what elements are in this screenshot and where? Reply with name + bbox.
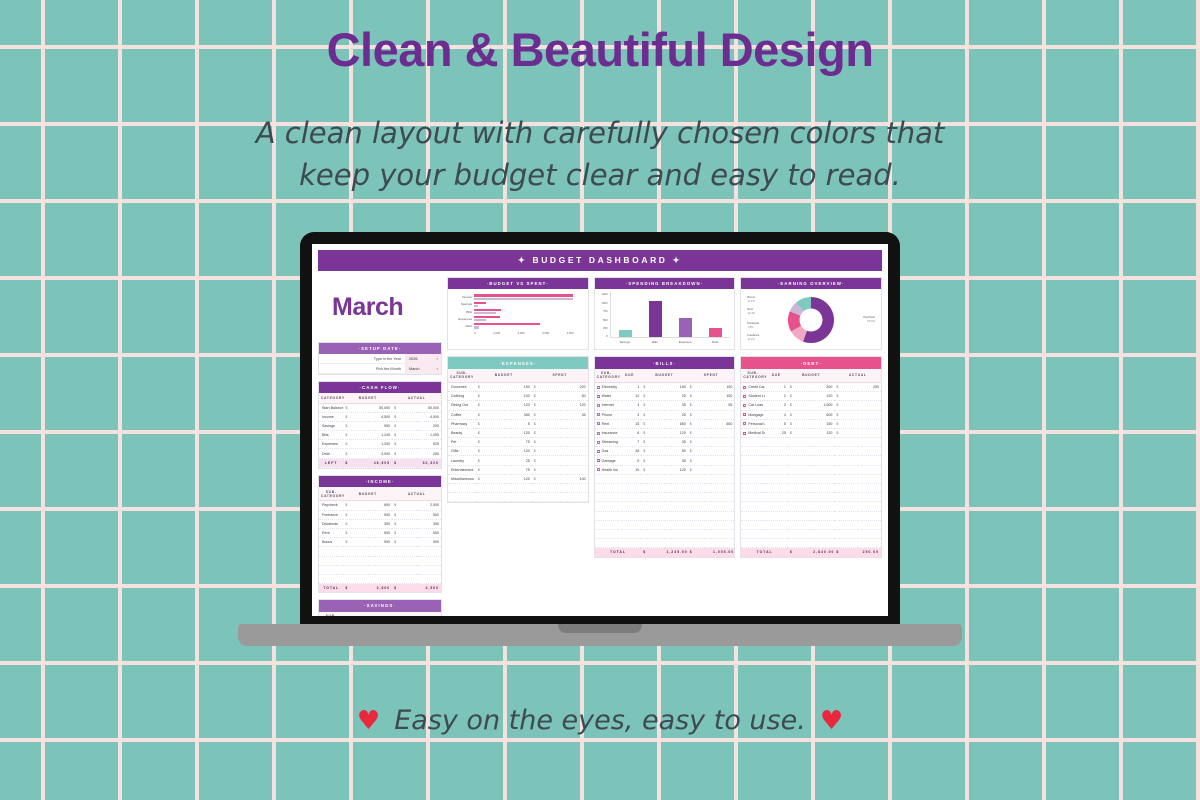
- cell-due: 1: [765, 382, 788, 391]
- table-row[interactable]: Credit Card1$300$250: [741, 382, 881, 391]
- cell-name: Bills: [319, 431, 343, 440]
- cell-spent: [560, 456, 588, 465]
- xtick: 2,000: [518, 331, 525, 335]
- cell-budget: 650: [368, 528, 392, 537]
- column-expenses: ·BUDGET VS SPENT· IncomeSavingsBillsExpe…: [447, 277, 589, 509]
- col-subcategory: SUB-CATEGORY: [595, 369, 618, 383]
- currency-symbol: $: [834, 401, 857, 410]
- hbar-budget: [474, 309, 501, 311]
- debt-body: Credit Card1$300$250Student Loan2$120$Ca…: [741, 382, 881, 547]
- table-row-empty[interactable]: [741, 529, 881, 538]
- cell-actual: 500: [417, 538, 441, 547]
- cell-budget: 350: [368, 519, 392, 528]
- hbar-spent: [474, 298, 573, 300]
- cash-flow-panel: ·CASH FLOW· CATEGORY BUDGET ACTUAL Start…: [318, 381, 442, 469]
- cell-budget: 25: [664, 410, 687, 419]
- currency-symbol: $: [688, 401, 711, 410]
- col-actual: ACTUAL: [834, 369, 881, 383]
- checkbox-icon[interactable]: [597, 395, 600, 398]
- col-due: DUE: [765, 369, 788, 383]
- col-subcategory: SUB-CATEGORY: [741, 369, 764, 383]
- donut-legend-paycheck: Paycheck55.6%: [863, 316, 875, 323]
- currency-symbol: $: [392, 431, 416, 440]
- table-row[interactable]: Internet3$35$55: [595, 401, 735, 410]
- currency-symbol: $: [688, 456, 711, 465]
- table-row[interactable]: Freelance$500$500: [319, 510, 441, 519]
- table-row-empty[interactable]: [741, 438, 881, 447]
- total-budget: 2,600: [368, 584, 392, 593]
- cell-name: Clothing: [448, 392, 476, 401]
- income-total-row: TOTAL $ 2,600 $ 4,500: [319, 584, 441, 593]
- cell-spent: [711, 447, 734, 456]
- left-actual: 52,520: [417, 458, 441, 467]
- table-row-empty[interactable]: [595, 502, 735, 511]
- cell-actual: 250: [858, 382, 881, 391]
- cell-due: 6: [618, 428, 641, 437]
- cell-due: 12: [618, 392, 641, 401]
- currency-symbol: $: [788, 392, 811, 401]
- table-row[interactable]: Pet$75$: [448, 438, 588, 447]
- table-row[interactable]: Water12$25$150: [595, 392, 735, 401]
- currency-symbol: $: [641, 456, 664, 465]
- table-row[interactable]: Personal Loan5$150$: [741, 419, 881, 428]
- column-left: March ·SETUP DATE· Type in the Year 2026…: [318, 277, 442, 616]
- hbar-budget: [474, 323, 540, 325]
- savings-table: SUB-CATEGORY BUDGET ACTUAL Emergency$100…: [319, 612, 441, 616]
- table-row[interactable]: Phone4$25$: [595, 410, 735, 419]
- table-row-empty[interactable]: [741, 502, 881, 511]
- table-row-empty[interactable]: [595, 520, 735, 529]
- table-row[interactable]: Bills$1,245$1,005: [319, 431, 441, 440]
- table-row-empty[interactable]: [595, 484, 735, 493]
- currency-symbol: $: [788, 382, 811, 391]
- cell-spent: 35: [560, 410, 588, 419]
- table-row[interactable]: Dining Out$120$120: [448, 401, 588, 410]
- laptop-mockup: ✦ BUDGET DASHBOARD ✦ March ·SETUP DATE· …: [300, 232, 900, 634]
- year-select[interactable]: 2026 ▾: [405, 354, 441, 363]
- table-row[interactable]: Student Loan2$120$: [741, 392, 881, 401]
- cell-budget: 650: [664, 419, 687, 428]
- cell-budget: 3,000: [368, 449, 392, 458]
- debt-panel: ·DEBT· SUB-CATEGORY DUE BUDGET ACTUAL Cr…: [740, 356, 882, 557]
- cell-name: Health Insurance: [595, 465, 618, 474]
- table-row[interactable]: Car Loan2$1,500$: [741, 401, 881, 410]
- currency-symbol: $: [688, 382, 711, 391]
- income-panel: ·INCOME· SUB-CATEGORY BUDGET ACTUAL Payc…: [318, 475, 442, 593]
- cell-due: 7: [618, 438, 641, 447]
- checkbox-icon[interactable]: [743, 386, 746, 389]
- savings-header: ·SAVINGS·: [319, 600, 441, 611]
- col-budget: BUDGET: [476, 369, 532, 383]
- table-row[interactable]: Coffee$350$35: [448, 410, 588, 419]
- laptop-screen: ✦ BUDGET DASHBOARD ✦ March ·SETUP DATE· …: [312, 244, 888, 616]
- currency-symbol: $: [343, 421, 367, 430]
- currency-symbol: $: [476, 438, 504, 447]
- vbar-bills: [649, 301, 662, 337]
- checkbox-icon[interactable]: [743, 413, 746, 416]
- month-label: Pick the Month: [319, 364, 405, 373]
- currency-symbol: $: [532, 465, 560, 474]
- table-row[interactable]: Clothing$100$50: [448, 392, 588, 401]
- cell-budget: 100: [504, 392, 532, 401]
- cell-name: Pet: [448, 438, 476, 447]
- currency-symbol: $: [788, 419, 811, 428]
- currency-symbol: $: [688, 438, 711, 447]
- cell-budget: 25: [664, 392, 687, 401]
- year-value: 2026: [409, 357, 417, 361]
- setup-date-panel: ·SETUP DATE· Type in the Year 2026 ▾ Pic…: [318, 342, 442, 375]
- table-row-empty[interactable]: [595, 493, 735, 502]
- budget-vs-spent-title: ·BUDGET VS SPENT·: [448, 278, 588, 289]
- cell-budget: 120: [504, 401, 532, 410]
- currency-symbol: $: [392, 510, 416, 519]
- month-heading: March: [318, 277, 442, 340]
- checkbox-icon[interactable]: [597, 450, 600, 453]
- table-row-empty[interactable]: [595, 511, 735, 520]
- table-row[interactable]: Gas28$50$: [595, 447, 735, 456]
- currency-symbol: $: [343, 412, 367, 421]
- cell-budget: 120: [811, 392, 834, 401]
- currency-symbol: $: [688, 428, 711, 437]
- table-row-empty[interactable]: [319, 556, 441, 565]
- currency-symbol: $: [476, 428, 504, 437]
- table-row[interactable]: Bonus$500$500: [319, 538, 441, 547]
- table-row-empty[interactable]: [448, 484, 588, 493]
- ytick: 0: [599, 334, 608, 338]
- setup-row-year: Type in the Year 2026 ▾: [319, 354, 441, 364]
- cell-due: 10: [618, 465, 641, 474]
- cell-name: Insurance: [595, 428, 618, 437]
- page-title: Clean & Beautiful Design: [0, 22, 1200, 77]
- currency-symbol: $: [476, 410, 504, 419]
- col-budget: BUDGET: [641, 369, 688, 383]
- currency-symbol: $: [641, 419, 664, 428]
- table-row[interactable]: Rent$650$650: [319, 528, 441, 537]
- bills-panel: ·BILLS· SUB-CATEGORY DUE BUDGET SPENT El…: [594, 356, 736, 557]
- earning-overview-title: ·EARNING OVERVIEW·: [741, 278, 881, 289]
- table-row-empty[interactable]: [595, 529, 735, 538]
- table-row[interactable]: Pharmacy$5$: [448, 419, 588, 428]
- heart-icon: ♥: [357, 706, 380, 736]
- cell-due: 4: [618, 410, 641, 419]
- cell-name: Start Balance: [319, 403, 343, 412]
- table-row-empty[interactable]: [319, 565, 441, 574]
- currency-symbol: $: [392, 528, 416, 537]
- currency-symbol: $: [641, 465, 664, 474]
- table-row[interactable]: Beauty$120$: [448, 428, 588, 437]
- cell-actual: [858, 419, 881, 428]
- cell-budget: 150: [504, 382, 532, 391]
- cell-name: Streaming: [595, 438, 618, 447]
- currency-symbol: $: [343, 403, 367, 412]
- cell-spent: [711, 456, 734, 465]
- currency-symbol: $: [532, 401, 560, 410]
- col-budget: BUDGET: [343, 487, 392, 501]
- currency-symbol: $: [392, 538, 416, 547]
- currency-symbol: $: [641, 428, 664, 437]
- currency-symbol: $: [343, 449, 367, 458]
- currency-symbol: $: [834, 428, 857, 437]
- cell-budget: 5: [504, 419, 532, 428]
- checkbox-icon[interactable]: [597, 422, 600, 425]
- total-label: TOTAL: [319, 584, 343, 593]
- table-row[interactable]: Dividends$350$350: [319, 519, 441, 528]
- table-row[interactable]: Expenses$1,200$525: [319, 440, 441, 449]
- vbar-debt: [709, 328, 722, 337]
- bills-total-row: TOTAL $ 1,245.00 $ 1,005.00: [595, 548, 735, 557]
- table-row[interactable]: Start Balance$50,000$50,000: [319, 403, 441, 412]
- table-header-row: SUB-CATEGORY BUDGET ACTUAL: [319, 487, 441, 501]
- table-row-empty[interactable]: [741, 456, 881, 465]
- hbar-row: Expenses: [452, 316, 584, 322]
- table-row-empty[interactable]: [741, 465, 881, 474]
- cell-name: Bonus: [319, 538, 343, 547]
- checkbox-icon[interactable]: [597, 413, 600, 416]
- cell-name: Rent: [319, 528, 343, 537]
- hbar-group: IncomeSavingsBillsExpensesDebt: [452, 292, 584, 328]
- table-row-empty[interactable]: [595, 474, 735, 483]
- checkbox-icon[interactable]: [743, 432, 746, 435]
- cell-budget: 120: [811, 428, 834, 437]
- table-row[interactable]: Mortgage4$600$: [741, 410, 881, 419]
- cell-name: Credit Card: [741, 382, 764, 391]
- cell-name: Entertainment: [448, 465, 476, 474]
- table-row[interactable]: Garbage9$35$: [595, 456, 735, 465]
- checkbox-icon[interactable]: [597, 468, 600, 471]
- cell-budget: 35: [664, 438, 687, 447]
- currency-symbol: $: [392, 519, 416, 528]
- currency-symbol: $: [392, 421, 416, 430]
- currency-symbol: $: [392, 412, 416, 421]
- cell-budget: 150: [664, 382, 687, 391]
- spending-breakdown-chart-panel: ·SPENDING BREAKDOWN· 125010007505002500 …: [594, 277, 736, 350]
- total-budget: 1,245.00: [664, 548, 687, 557]
- vbar-label: Savings: [615, 340, 635, 344]
- hbar-xaxis: 01,0002,0003,0004,000: [474, 331, 584, 335]
- currency-symbol: $: [392, 501, 416, 510]
- table-row-empty[interactable]: [448, 493, 588, 502]
- table-row[interactable]: Electricity1$150$150: [595, 382, 735, 391]
- cell-budget: 50: [664, 447, 687, 456]
- hbar-label: Income: [452, 295, 472, 299]
- currency-symbol: $: [688, 447, 711, 456]
- table-row-empty[interactable]: [741, 493, 881, 502]
- table-row-empty[interactable]: [595, 539, 735, 548]
- currency-symbol: $: [641, 447, 664, 456]
- vbar-expenses: [679, 318, 692, 337]
- cell-spent: 650: [711, 419, 734, 428]
- checkbox-icon[interactable]: [597, 459, 600, 462]
- checkbox-icon[interactable]: [743, 422, 746, 425]
- savings-panel: ·SAVINGS· SUB-CATEGORY BUDGET ACTUAL Eme…: [318, 599, 442, 616]
- cell-spent: [560, 438, 588, 447]
- currency-symbol: $: [788, 428, 811, 437]
- currency-symbol: $: [476, 465, 504, 474]
- cell-actual: 200: [417, 421, 441, 430]
- cell-budget: 75: [504, 438, 532, 447]
- cell-name: Electricity: [595, 382, 618, 391]
- cell-actual: [858, 401, 881, 410]
- currency-symbol: $: [343, 510, 367, 519]
- cell-spent: 55: [711, 401, 734, 410]
- total-budget: 2,840.00: [811, 548, 834, 557]
- cell-name: Dividends: [319, 519, 343, 528]
- hbar-spent: [474, 305, 478, 307]
- cell-spent: [560, 428, 588, 437]
- currency-symbol: $: [532, 474, 560, 483]
- currency-symbol: $: [343, 528, 367, 537]
- hbar-label: Expenses: [452, 317, 472, 321]
- checkbox-icon[interactable]: [597, 432, 600, 435]
- hbar-spent: [474, 326, 479, 328]
- table-row[interactable]: Laundry$25$: [448, 456, 588, 465]
- cell-budget: 550: [368, 421, 392, 430]
- table-row-empty[interactable]: [741, 474, 881, 483]
- income-header: ·INCOME·: [319, 476, 441, 487]
- checkbox-icon[interactable]: [743, 395, 746, 398]
- currency-symbol: $: [532, 428, 560, 437]
- expenses-body: Groceries$150$220Clothing$100$50Dining O…: [448, 382, 588, 501]
- table-row[interactable]: Health Insurance10$120$: [595, 465, 735, 474]
- table-row[interactable]: Income$4,500$4,500: [319, 412, 441, 421]
- currency-symbol: $: [476, 447, 504, 456]
- hbar-row: Savings: [452, 302, 584, 308]
- currency-symbol: $: [532, 392, 560, 401]
- checkbox-icon[interactable]: [597, 441, 600, 444]
- table-row[interactable]: Rent15$650$650: [595, 419, 735, 428]
- hbar-row: Debt: [452, 323, 584, 329]
- setup-date-header: ·SETUP DATE·: [319, 343, 441, 354]
- donut-chart: [788, 297, 834, 343]
- currency-symbol: $: [476, 392, 504, 401]
- checkbox-icon[interactable]: [597, 404, 600, 407]
- footer-text: Easy on the eyes, easy to use.: [394, 705, 806, 736]
- cell-budget: 1,500: [811, 401, 834, 410]
- cell-actual: 2,500: [417, 501, 441, 510]
- currency-symbol: $: [532, 456, 560, 465]
- currency-symbol: $: [532, 419, 560, 428]
- bills-header: ·BILLS·: [595, 357, 735, 368]
- table-row[interactable]: Streaming7$35$: [595, 438, 735, 447]
- currency-symbol: $: [343, 440, 367, 449]
- cell-due: 4: [765, 410, 788, 419]
- chevron-down-icon: ▾: [436, 357, 438, 361]
- checkbox-icon[interactable]: [743, 404, 746, 407]
- col-actual: ACTUAL: [392, 487, 441, 501]
- cell-actual: [858, 428, 881, 437]
- cell-due: 3: [618, 401, 641, 410]
- cell-name: Paycheck: [319, 501, 343, 510]
- currency-symbol: $: [788, 410, 811, 419]
- cell-name: Coffee: [448, 410, 476, 419]
- expenses-table: SUB-CATEGORY BUDGET SPENT Groceries$150$…: [448, 369, 588, 503]
- currency-symbol: $: [476, 419, 504, 428]
- table-row-empty[interactable]: [319, 574, 441, 583]
- cell-budget: 150: [811, 419, 834, 428]
- budget-vs-spent-chart-panel: ·BUDGET VS SPENT· IncomeSavingsBillsExpe…: [447, 277, 589, 350]
- vbar-label: Debt: [705, 340, 725, 344]
- chevron-down-icon: ▾: [436, 367, 438, 371]
- table-row[interactable]: Entertainment$75$: [448, 465, 588, 474]
- cell-name: Groceries: [448, 382, 476, 391]
- cell-name: Freelance: [319, 510, 343, 519]
- table-row[interactable]: Miscellaneous$120$100: [448, 474, 588, 483]
- month-select[interactable]: March ▾: [405, 364, 441, 373]
- debt-table: SUB-CATEGORY DUE BUDGET ACTUAL Credit Ca…: [741, 369, 881, 557]
- table-row-empty[interactable]: [741, 447, 881, 456]
- donut-wrap: Paycheck55.6%Bonus11.1%Rent14.4%Dividend…: [745, 292, 877, 348]
- cell-spent: 150: [711, 392, 734, 401]
- table-row[interactable]: Debt$3,000$250: [319, 449, 441, 458]
- currency-symbol: $: [834, 410, 857, 419]
- table-row[interactable]: Insurance6$120$: [595, 428, 735, 437]
- table-row-empty[interactable]: [741, 484, 881, 493]
- cell-name: Savings: [319, 421, 343, 430]
- cell-name: Medical Debt: [741, 428, 764, 437]
- donut-legend-rent: Rent14.4%: [747, 308, 755, 315]
- currency-symbol: $: [641, 438, 664, 447]
- dashboard-columns: March ·SETUP DATE· Type in the Year 2026…: [318, 277, 882, 616]
- checkbox-icon[interactable]: [597, 386, 600, 389]
- currency-symbol: $: [476, 401, 504, 410]
- table-row[interactable]: Savings$550$200: [319, 421, 441, 430]
- cell-name: Expenses: [319, 440, 343, 449]
- cell-budget: 300: [811, 382, 834, 391]
- table-row-empty[interactable]: [319, 547, 441, 556]
- cell-actual: 50,000: [417, 403, 441, 412]
- col-budget: BUDGET: [788, 369, 835, 383]
- expenses-panel: ·EXPENSES· SUB-CATEGORY BUDGET SPENT Gro…: [447, 356, 589, 503]
- cell-name: Water: [595, 392, 618, 401]
- currency-symbol: $: [834, 419, 857, 428]
- table-row[interactable]: Groceries$150$220: [448, 382, 588, 391]
- col-spent: SPENT: [688, 369, 735, 383]
- currency-symbol: $: [343, 431, 367, 440]
- ytick: 1250: [599, 292, 608, 296]
- col-budget: BUDGET: [343, 612, 392, 616]
- xtick: 1,000: [493, 331, 500, 335]
- table-row[interactable]: Medical Debt25$120$: [741, 428, 881, 437]
- currency-symbol: $: [688, 465, 711, 474]
- debt-total-row: TOTAL $ 2,840.00 $ 250.00: [741, 548, 881, 557]
- year-label: Type in the Year: [319, 354, 405, 363]
- total-spent: 1,005.00: [711, 548, 734, 557]
- table-row-empty[interactable]: [741, 511, 881, 520]
- currency-symbol: $: [532, 438, 560, 447]
- table-row[interactable]: Paycheck$600$2,500: [319, 501, 441, 510]
- cell-budget: 120: [504, 447, 532, 456]
- cell-actual: 500: [417, 510, 441, 519]
- col-subcategory: SUB-CATEGORY: [319, 612, 343, 616]
- cell-name: Student Loan: [741, 392, 764, 401]
- table-row[interactable]: Gifts$120$: [448, 447, 588, 456]
- cell-budget: 35: [664, 401, 687, 410]
- expenses-header: ·EXPENSES·: [448, 357, 588, 368]
- hbar-budget: [474, 294, 573, 296]
- left-label: LEFT: [319, 458, 343, 467]
- table-row-empty[interactable]: [741, 539, 881, 548]
- currency-symbol: $: [788, 401, 811, 410]
- cell-budget: 120: [664, 465, 687, 474]
- cell-due: 5: [765, 419, 788, 428]
- total-actual: 4,500: [417, 584, 441, 593]
- currency-symbol: $: [641, 410, 664, 419]
- xtick: 3,000: [542, 331, 549, 335]
- hbar-budget: [474, 316, 500, 318]
- cell-name: Income: [319, 412, 343, 421]
- cell-actual: [858, 392, 881, 401]
- table-row-empty[interactable]: [741, 520, 881, 529]
